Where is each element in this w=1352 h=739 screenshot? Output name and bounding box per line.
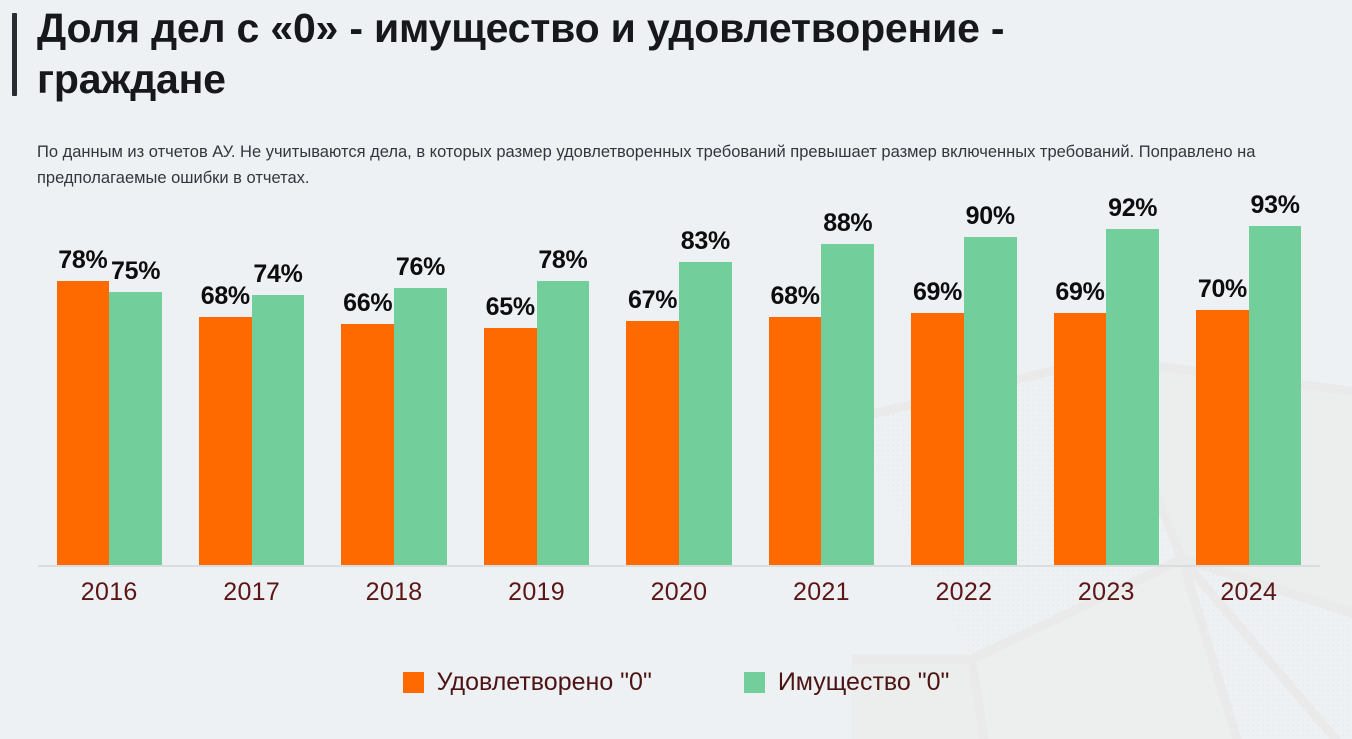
bar-value-label: 67% [628, 286, 677, 315]
x-tick-2018: 2018 [323, 578, 465, 607]
bar-rect [1196, 310, 1249, 566]
bar-group: 67%83% [626, 200, 731, 566]
bar-value-label: 69% [1055, 278, 1104, 307]
bar-group: 70%93% [1196, 200, 1301, 566]
bar-rect [199, 317, 252, 566]
bar-rect [769, 317, 822, 566]
bar-group: 78%75% [57, 200, 162, 566]
bar-value-label: 90% [966, 202, 1015, 231]
bar-rect [1106, 229, 1159, 566]
bar-value-label: 68% [201, 282, 250, 311]
bar-rect [252, 295, 305, 566]
legend-item-2[interactable]: Имущество "0" [744, 668, 950, 697]
x-tick-2021: 2021 [750, 578, 892, 607]
bar-rect [911, 313, 964, 566]
x-tick-2022: 2022 [893, 578, 1035, 607]
bar-rect [57, 281, 110, 566]
bar-value-label: 92% [1108, 194, 1157, 223]
slide-canvas: Доля дел с «0» - имущество и удовлетворе… [0, 0, 1352, 739]
legend-swatch-icon [403, 672, 424, 693]
x-axis-line [38, 565, 1320, 567]
bar-value-label: 68% [771, 282, 820, 311]
bar-value-label: 78% [538, 246, 587, 275]
bar-rect [394, 288, 447, 566]
bar-value-label: 93% [1251, 191, 1300, 220]
title-accent-bar [12, 13, 17, 96]
bar-value-label: 66% [343, 289, 392, 318]
bar-chart: 78%75%68%74%66%76%65%78%67%83%68%88%69%9… [0, 200, 1352, 600]
page-subtitle: По данным из отчетов АУ. Не учитываются … [37, 139, 1343, 191]
bar-value-label: 76% [396, 253, 445, 282]
x-tick-2017: 2017 [180, 578, 322, 607]
x-tick-2024: 2024 [1178, 578, 1320, 607]
x-tick-2019: 2019 [465, 578, 607, 607]
chart-legend: Удовлетворено "0"Имущество "0" [0, 668, 1352, 697]
bar-rect [1054, 313, 1107, 566]
bar-group: 66%76% [341, 200, 446, 566]
legend-label: Имущество "0" [778, 668, 950, 697]
bar-value-label: 70% [1198, 275, 1247, 304]
bar-value-label: 75% [111, 257, 160, 286]
bar-rect [626, 321, 679, 566]
bar-rect [341, 324, 394, 566]
legend-swatch-icon [744, 672, 765, 693]
bar-value-label: 65% [486, 293, 535, 322]
bar-value-label: 88% [823, 209, 872, 238]
x-tick-2023: 2023 [1035, 578, 1177, 607]
bar-rect [109, 292, 162, 567]
bar-value-label: 83% [681, 227, 730, 256]
plot-area: 78%75%68%74%66%76%65%78%67%83%68%88%69%9… [38, 200, 1320, 566]
x-tick-2020: 2020 [608, 578, 750, 607]
bar-rect [964, 237, 1017, 566]
bar-rect [537, 281, 590, 566]
bar-group: 69%92% [1054, 200, 1159, 566]
bar-group: 68%88% [769, 200, 874, 566]
x-tick-2016: 2016 [38, 578, 180, 607]
bar-value-label: 78% [58, 246, 107, 275]
bar-rect [679, 262, 732, 566]
bar-value-label: 69% [913, 278, 962, 307]
bar-value-label: 74% [253, 260, 302, 289]
legend-item-1[interactable]: Удовлетворено "0" [403, 668, 652, 697]
page-title: Доля дел с «0» - имущество и удовлетворе… [37, 3, 1157, 105]
bar-group: 65%78% [484, 200, 589, 566]
bar-group: 69%90% [911, 200, 1016, 566]
bar-rect [484, 328, 537, 566]
bar-rect [1249, 226, 1302, 566]
bar-rect [821, 244, 874, 566]
legend-label: Удовлетворено "0" [437, 668, 652, 697]
bar-group: 68%74% [199, 200, 304, 566]
